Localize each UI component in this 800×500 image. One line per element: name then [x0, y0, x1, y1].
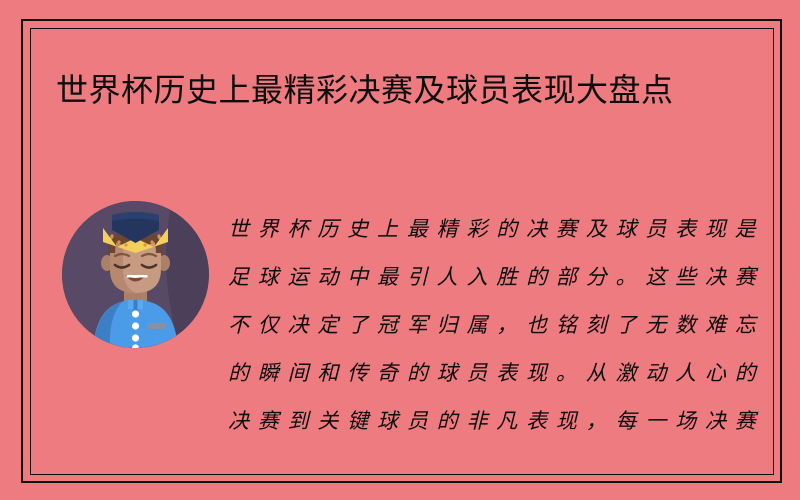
article-paragraph: 世界杯历史上最精彩的决赛及球员表现是 足球运动中最引人入胜的部分。这些决赛 不仅… — [228, 205, 758, 445]
paragraph-line: 不仅决定了冠军归属，也铭刻了无数难忘 — [228, 301, 758, 349]
paragraph-line: 足球运动中最引人入胜的部分。这些决赛 — [228, 253, 758, 301]
paragraph-line: 的瞬间和传奇的球员表现。从激动人心的 — [228, 349, 758, 397]
avatar-illustration — [62, 201, 209, 348]
avatar — [62, 201, 209, 348]
paragraph-line: 决赛到关键球员的非凡表现，每一场决赛 — [228, 397, 758, 445]
page-title: 世界杯历史上最精彩决赛及球员表现大盘点 — [56, 64, 696, 117]
paragraph-line: 世界杯历史上最精彩的决赛及球员表现是 — [228, 205, 758, 253]
